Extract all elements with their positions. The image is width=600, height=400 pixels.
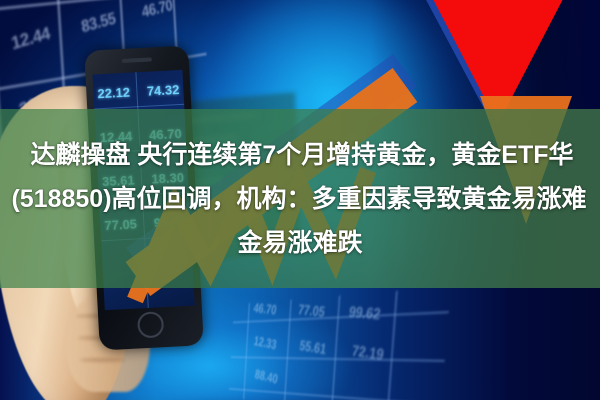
headline-block: 达麟操盘 央行连续第7个月增持黄金，黄金ETF华 (518850)高位回调，机构… (0, 109, 600, 288)
news-banner-image: 12.12 74.32 99.62 12.44 83.55 46.70 22.5… (0, 0, 600, 400)
headline-line-3: 金易涨难跌 (237, 222, 362, 264)
headline-line-2: (518850)高位回调，机构：多重因素导致黄金易涨难 (11, 178, 586, 220)
headline-line-1: 达麟操盘 央行连续第7个月增持黄金，黄金ETF华 (30, 134, 573, 176)
